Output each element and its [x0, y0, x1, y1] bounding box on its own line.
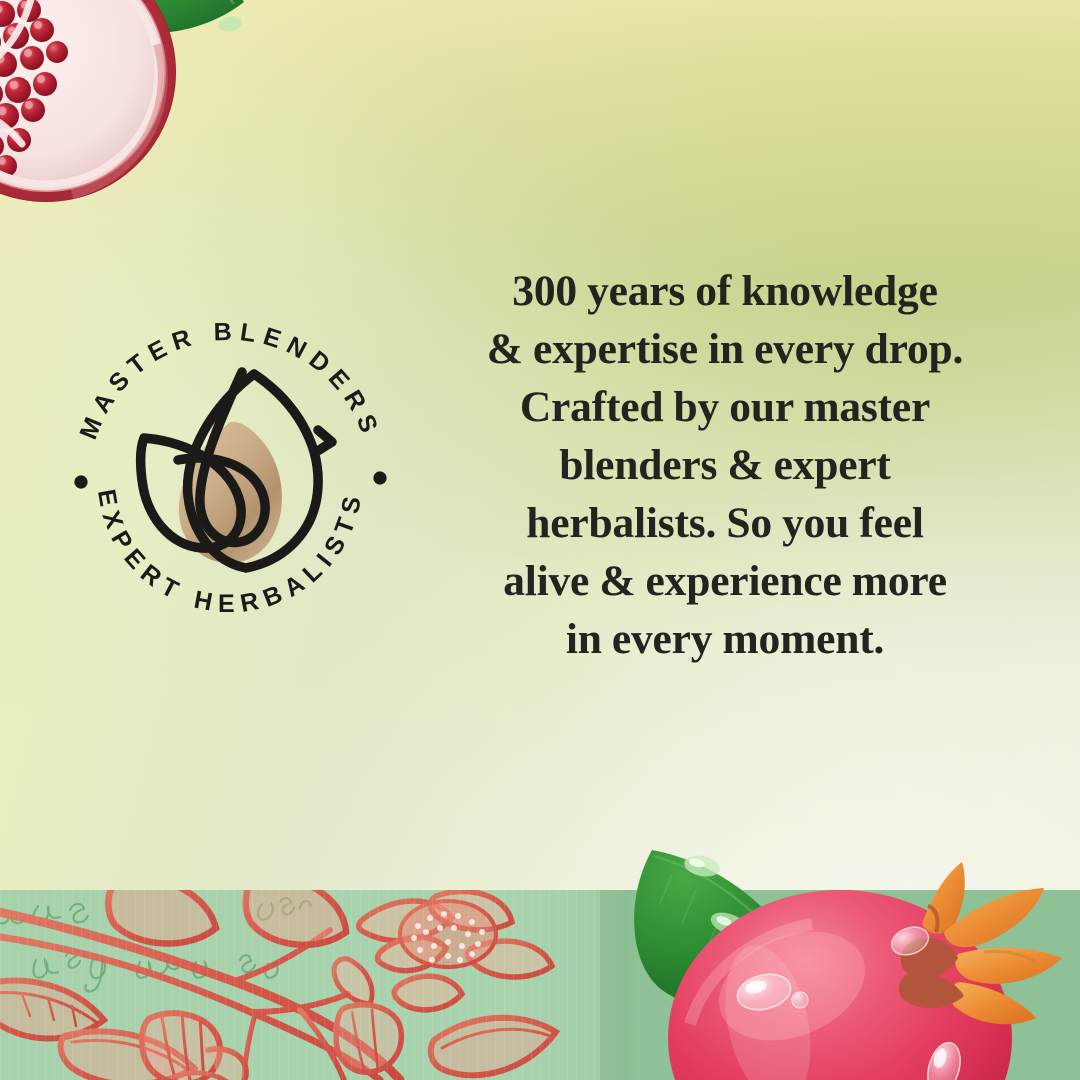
headline-line: Crafted by our master: [432, 378, 1018, 436]
headline-line: herbalists. So you feel: [432, 494, 1018, 552]
badge-dot-right: [373, 471, 386, 484]
leaf-drop-logo-icon: [141, 372, 332, 568]
pomegranate-whole-decoration: [596, 828, 1080, 1080]
badge-dot-left: [74, 475, 87, 488]
master-blenders-badge: MASTER BLENDERS EXPERT HERBALISTS: [60, 310, 400, 650]
headline-line: blenders & expert: [432, 436, 1018, 494]
headline-line: alive & experience more: [432, 552, 1018, 610]
headline-line: & expertise in every drop.: [432, 320, 1018, 378]
botanical-illustration: [0, 890, 600, 1080]
headline-line: 300 years of knowledge: [432, 262, 1018, 320]
headline-line: in every moment.: [432, 610, 1018, 668]
pomegranate-fruit-shape: [0, 0, 176, 202]
pomegranate-half-decoration: [0, 0, 252, 234]
headline-copy: 300 years of knowledge & expertise in ev…: [432, 262, 1018, 668]
promo-banner: MASTER BLENDERS EXPERT HERBALISTS: [0, 0, 1080, 1080]
paper-texture-overlay: [0, 890, 600, 1080]
